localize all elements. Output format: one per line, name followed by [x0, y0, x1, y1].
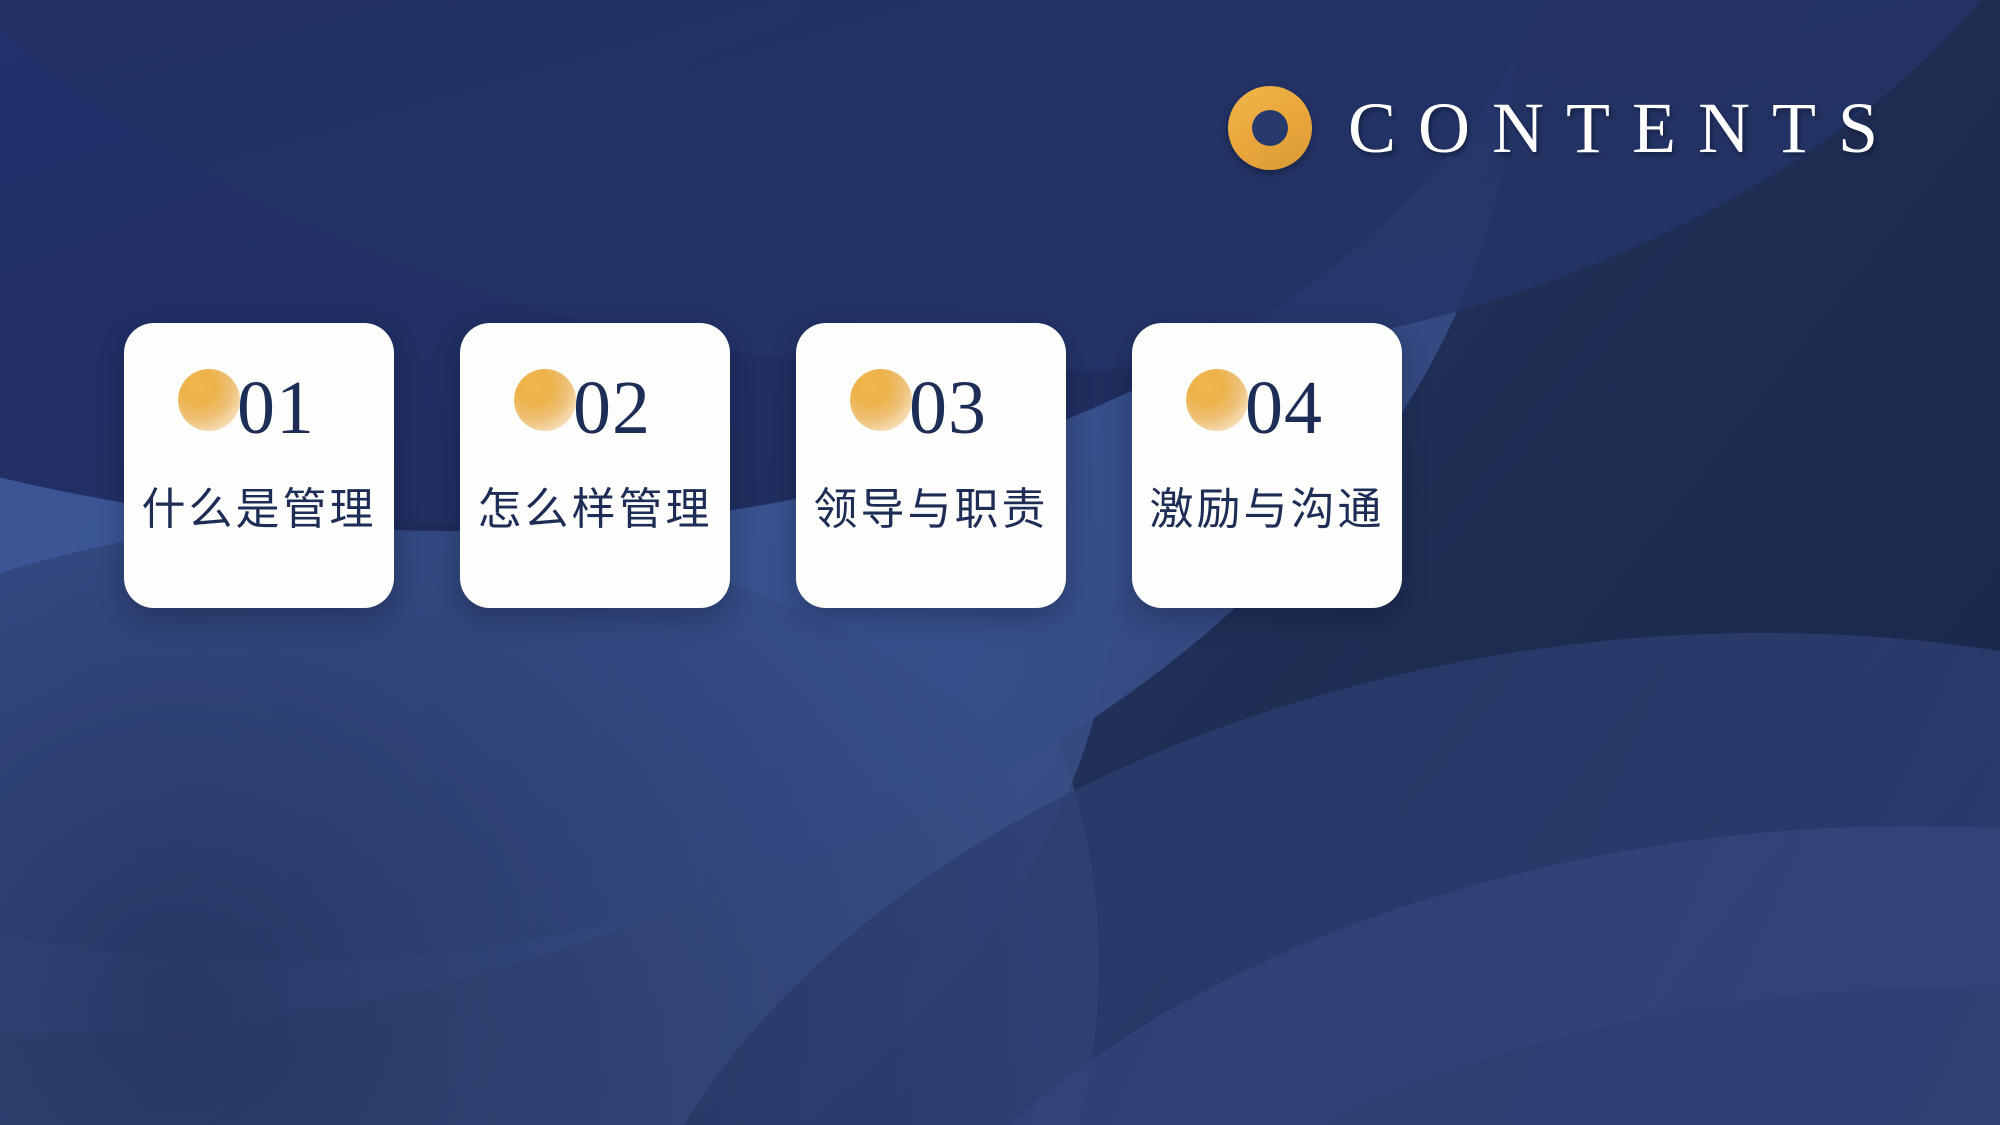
gold-ring-icon-hole: [1252, 110, 1288, 146]
card-label: 领导与职责: [814, 473, 1049, 537]
background-wave-band-7: [947, 928, 2000, 1125]
slide-header: CONTENTS: [1228, 86, 1900, 170]
card-number: 01: [237, 370, 315, 446]
card-number: 02: [573, 370, 651, 446]
gold-dot-icon: [178, 369, 240, 431]
card-label: 激励与沟通: [1150, 473, 1385, 537]
contents-card-04[interactable]: 04 激励与沟通: [1132, 323, 1402, 608]
gold-dot-icon: [1186, 369, 1248, 431]
contents-card-03[interactable]: 03 领导与职责: [796, 323, 1066, 608]
gold-dot-icon: [850, 369, 912, 431]
gold-dot-icon: [514, 369, 576, 431]
card-number-row: 01: [124, 351, 394, 459]
contents-card-01[interactable]: 01 什么是管理: [124, 323, 394, 608]
card-label: 什么是管理: [142, 473, 377, 537]
contents-slide: CONTENTS 01 什么是管理 02 怎么样管理 03 领导与职责: [0, 0, 2000, 1125]
card-number: 03: [909, 370, 987, 446]
background-wave-band-5: [526, 517, 2000, 1125]
gold-ring-icon: [1228, 86, 1312, 170]
card-number-row: 02: [460, 351, 730, 459]
contents-card-list: 01 什么是管理 02 怎么样管理 03 领导与职责 04 激励与沟通: [124, 323, 1402, 608]
background-wave-band-6: [772, 745, 2000, 1125]
background-vignette: [0, 520, 1200, 1125]
card-number: 04: [1245, 370, 1323, 446]
contents-card-02[interactable]: 02 怎么样管理: [460, 323, 730, 608]
card-number-row: 03: [796, 351, 1066, 459]
page-title: CONTENTS: [1348, 92, 1900, 164]
card-label: 怎么样管理: [478, 473, 713, 537]
card-number-row: 04: [1132, 351, 1402, 459]
